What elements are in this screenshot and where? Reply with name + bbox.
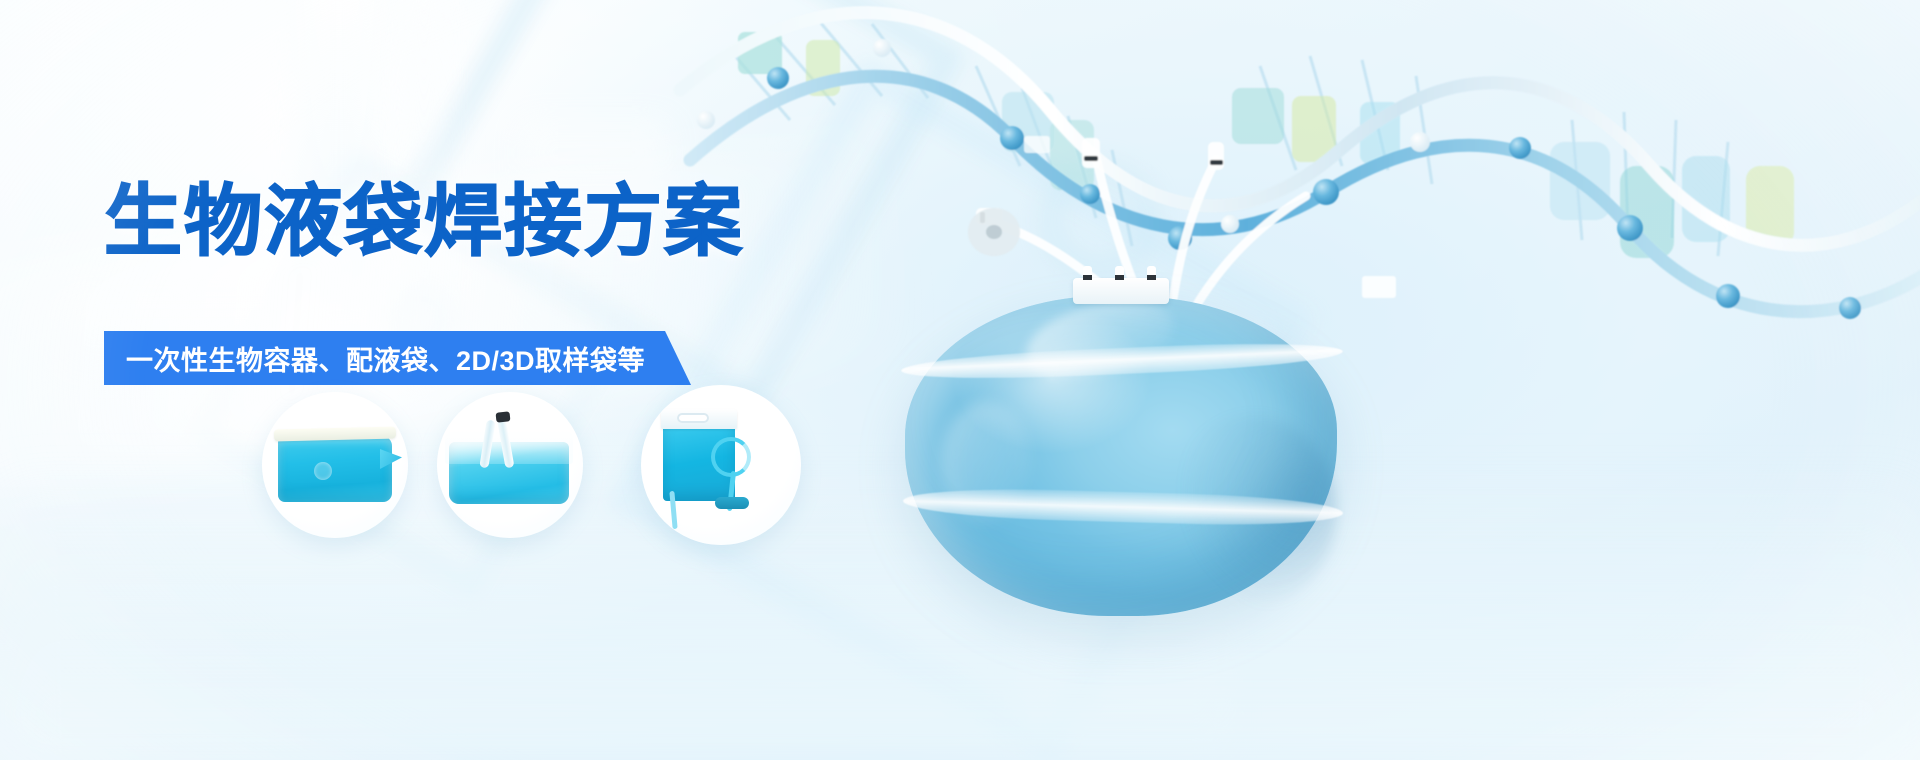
bag-hang-hole-icon bbox=[677, 413, 709, 423]
tube-clamp-icon bbox=[496, 411, 511, 422]
product-thumbnail-flat-bag[interactable] bbox=[262, 392, 408, 538]
port-pin-icon bbox=[1083, 266, 1092, 280]
bag-top-port-plate bbox=[1073, 278, 1169, 304]
product-thumbnail-3d-bag[interactable] bbox=[437, 392, 583, 538]
port-pin-icon bbox=[1115, 266, 1124, 280]
ring-shape-icon bbox=[1040, 160, 1160, 280]
inline-filter-icon bbox=[715, 497, 749, 509]
bioreactor-bag-image bbox=[905, 296, 1337, 616]
product-thumbnail-list bbox=[0, 0, 900, 760]
port-pin-icon bbox=[1147, 266, 1156, 280]
hero-banner: 生物液袋焊接方案 一次性生物容器、配液袋、2D/3D取样袋等 bbox=[0, 0, 1920, 760]
flat-pillow-bag-icon bbox=[278, 436, 392, 502]
product-thumbnail-sampling-bag[interactable] bbox=[641, 385, 801, 545]
bag-highlight bbox=[314, 462, 332, 480]
